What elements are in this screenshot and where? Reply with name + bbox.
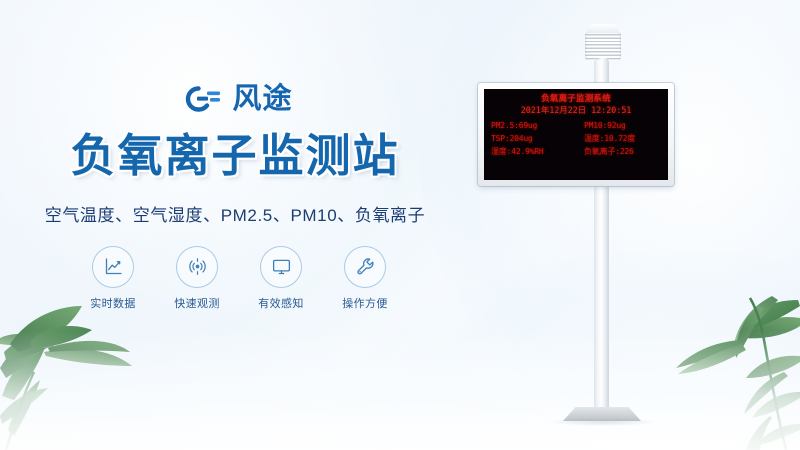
leaf-cluster-left [0,306,132,450]
feature-item-fast-observation: 快速观测 [168,246,226,311]
led-reading-temperature: 温度:10.72度 [577,133,661,145]
monitoring-station: 负氧离子监测系统 2021年12月22日 12:20:51 PM2.5:69ug… [430,0,800,450]
led-reading-pm25: PM2.5:69ug [491,120,575,132]
feature-label: 快速观测 [168,295,226,311]
line-chart-icon [92,246,134,288]
led-screen-title: 负氧离子监测系统 [491,94,661,105]
pole-ground-shadow [548,418,658,426]
led-reading-humidity: 湿度:42.9%RH [491,146,575,158]
page-subtitle: 空气温度、空气湿度、PM2.5、PM10、负氧离子 [0,201,470,226]
page-title: 负氧离子监测站 [0,132,470,181]
led-reading-pm10: PM10:92ug [577,120,661,132]
sensor-louver-fins [585,32,621,60]
poster-canvas: 风途 负氧离子监测站 空气温度、空气湿度、PM2.5、PM10、负氧离子 实时数… [0,0,800,450]
wrench-icon [344,246,386,288]
brand-lockup: 风途 [0,78,470,120]
feature-item-easy-operation: 操作方便 [336,246,394,311]
feature-item-realtime-data: 实时数据 [84,246,142,311]
monitor-icon [260,246,302,288]
feature-label: 操作方便 [336,295,394,311]
led-screen-datetime: 2021年12月22日 12:20:51 [491,106,661,117]
feature-label: 实时数据 [84,295,142,311]
feature-item-effective-sensing: 有效感知 [252,246,310,311]
led-reading-negative-ions: 负氧离子:226 [577,146,661,158]
brand-name: 风途 [232,85,292,114]
led-readings-grid: PM2.5:69ug PM10:92ug TSP:204ug 温度:10.72度… [491,120,661,158]
feature-label: 有效感知 [252,295,310,311]
hero-text-column: 风途 负氧离子监测站 空气温度、空气湿度、PM2.5、PM10、负氧离子 实时数… [0,78,470,311]
feature-list: 实时数据 快速观测 [0,246,470,311]
led-display-board: 负氧离子监测系统 2021年12月22日 12:20:51 PM2.5:69ug… [478,83,674,186]
signal-radar-icon [176,246,218,288]
led-screen: 负氧离子监测系统 2021年12月22日 12:20:51 PM2.5:69ug… [484,89,668,180]
gf-logo-icon [177,82,223,116]
led-reading-tsp: TSP:204ug [491,133,575,145]
